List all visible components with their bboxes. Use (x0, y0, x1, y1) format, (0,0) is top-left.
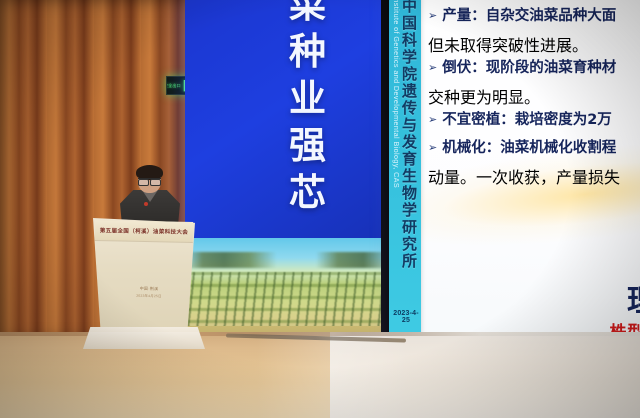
bullet-arrow-icon: ➢ (428, 136, 437, 161)
slide-heading: 理 (627, 276, 640, 320)
podium-location: 中国·荆溪 (120, 285, 178, 292)
bullet-arrow-icon: ➢ (428, 4, 437, 29)
bullet-text: 机械化：油菜机械化收割程 (442, 136, 616, 161)
podium-banner: 第五届全国（柯溪）油菜科技大会 (95, 220, 193, 243)
bullet-item: ➢ 产量：自杂交油菜品种大面 (428, 4, 640, 29)
bullet-arrow-icon: ➢ (428, 56, 437, 81)
bullet-text: 产量：自杂交油菜品种大面 (442, 4, 616, 29)
slide-bullet-list: ➢ 产量：自杂交油菜品种大面 但未取得突破性进展。 ➢ 倒伏：现阶段的油菜育种材… (428, 4, 640, 188)
bullet-item: ➢ 不宜密植：栽培密度为2万 (428, 108, 640, 133)
bullet-item: ➢ 倒伏：现阶段的油菜育种材 (428, 56, 640, 81)
bullet-text: 不宜密植：栽培密度为2万 (442, 108, 612, 133)
photo-crop-rows (185, 272, 403, 334)
bullet-item: ➢ 机械化：油菜机械化收割程 (428, 136, 640, 161)
institute-banner: Institute of Genetics and Developmental … (389, 0, 421, 347)
speaker-badge (144, 202, 148, 206)
institute-banner-date: 2023-4-25 (391, 310, 421, 324)
podium-banner-text: 第五届全国（柯溪）油菜科技大会 (100, 226, 189, 236)
glasses-icon (138, 178, 161, 184)
floor-reflection (0, 332, 640, 418)
projected-slide: ➢ 产量：自杂交油菜品种大面 但未取得突破性进展。 ➢ 倒伏：现阶段的油菜育种材… (392, 0, 640, 359)
bullet-continuation: 动量。一次收获，产量损失 (428, 164, 640, 188)
institute-banner-chinese: 中国科学院遗传与发育生物学研究所 (401, 0, 419, 270)
exit-sign-label: 安全出口 (166, 83, 181, 89)
bullet-continuation: 交种更为明显。 (428, 84, 640, 108)
podium-subtext: 中国·荆溪 2023年4月25日 (120, 285, 178, 298)
bullet-arrow-icon: ➢ (428, 108, 437, 133)
conference-photo: 安全出口 因 菜种业强芯 第五届全国（柯溪）油菜科技大会 中国·荆溪 2023年… (0, 0, 640, 418)
led-screen-title: 菜种业强芯 (271, 0, 345, 217)
led-screen: 菜种业强芯 (185, 0, 403, 350)
photo-treeline (185, 252, 403, 268)
bullet-continuation: 但未取得突破性进展。 (428, 32, 640, 56)
bullet-text: 倒伏：现阶段的油菜育种材 (442, 56, 616, 81)
